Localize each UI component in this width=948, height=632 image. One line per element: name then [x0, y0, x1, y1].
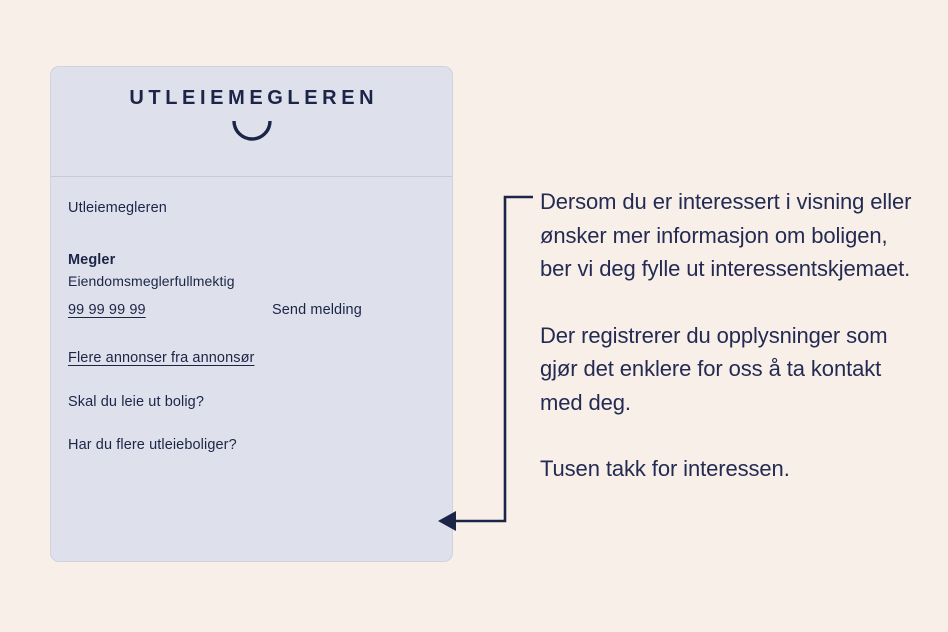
company-name: Utleiemegleren	[68, 200, 452, 216]
agent-title: Eiendomsmeglerfullmektig	[68, 273, 452, 289]
more-rentals-link[interactable]: Har du flere utleieboliger?	[68, 437, 452, 453]
send-message-link[interactable]: Send melding	[272, 302, 362, 318]
annotation-paragraph-2: Der registrerer du opplysninger som gjør…	[540, 319, 912, 420]
phone-number-link[interactable]: 99 99 99 99	[68, 302, 272, 318]
contact-row: 99 99 99 99 Send melding	[68, 302, 452, 318]
annotation-paragraph-1: Dersom du er interessert i visning eller…	[540, 185, 912, 286]
card-body: Utleiemegleren Megler Eiendomsmeglerfull…	[51, 177, 452, 453]
agent-contact-card: UTLEIEMEGLEREN Utleiemegleren Megler Eie…	[50, 66, 453, 562]
annotation-text-block: Dersom du er interessert i visning eller…	[540, 185, 912, 486]
card-header: UTLEIEMEGLEREN	[51, 67, 452, 177]
rent-out-home-link[interactable]: Skal du leie ut bolig?	[68, 394, 452, 410]
agent-info: Megler Eiendomsmeglerfullmektig	[68, 252, 452, 289]
brand-wordmark: UTLEIEMEGLEREN	[51, 87, 452, 110]
related-links: Flere annonser fra annonsør Skal du leie…	[68, 349, 452, 453]
agent-role: Megler	[68, 252, 452, 268]
more-ads-link[interactable]: Flere annonser fra annonsør	[68, 350, 254, 366]
smile-arc-icon	[51, 119, 452, 145]
annotation-paragraph-3: Tusen takk for interessen.	[540, 452, 912, 486]
